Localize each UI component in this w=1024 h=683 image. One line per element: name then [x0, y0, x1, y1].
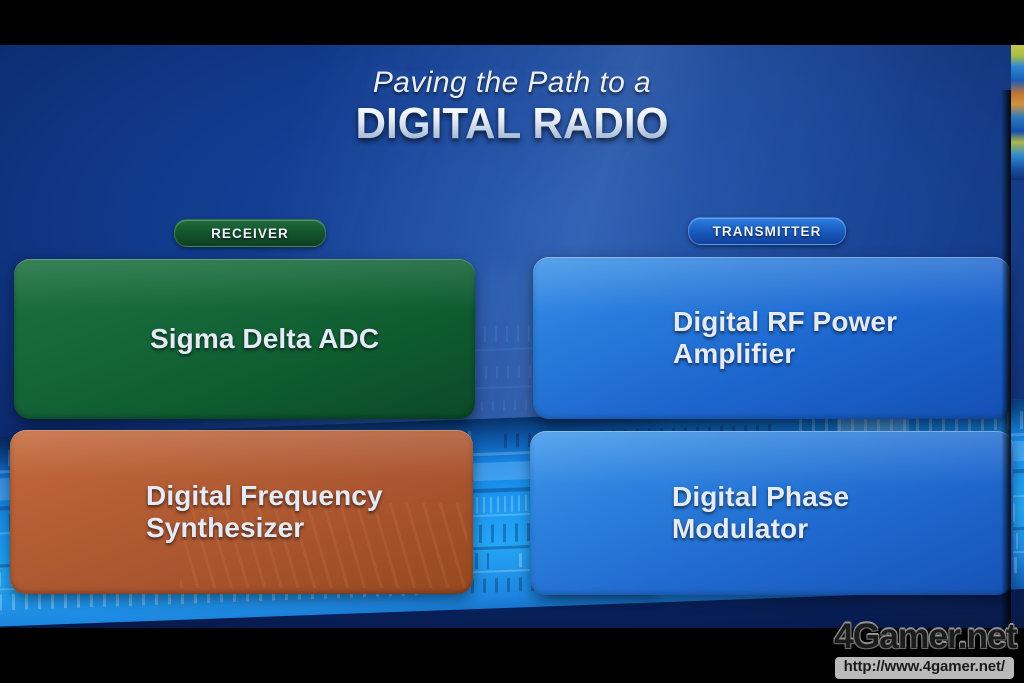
card-digital-phase-modulator[interactable]: Digital Phase Modulator: [530, 431, 1013, 595]
slide-title: DIGITAL RADIO: [20, 101, 1003, 147]
letterbox-top: [0, 0, 1024, 45]
section-badge-transmitter-label: TRANSMITTER: [713, 224, 822, 239]
card-digital-frequency-synthesizer-title: Digital Frequency Synthesizer: [146, 480, 383, 544]
card-digital-rf-power-amplifier[interactable]: Digital RF Power Amplifier: [533, 257, 1010, 419]
watermark-url: http://www.4gamer.net/: [835, 657, 1014, 679]
presentation-slide: Paving the Path to a DIGITAL RADIO RECEI…: [0, 45, 1024, 628]
screen-edge-shadow: [1001, 90, 1011, 628]
card-title-line-2: Synthesizer: [146, 512, 383, 544]
section-badge-receiver-label: RECEIVER: [211, 226, 289, 241]
card-digital-phase-modulator-title: Digital Phase Modulator: [672, 481, 849, 545]
card-title-line-1: Digital Phase: [672, 481, 849, 513]
card-title-line-2: Amplifier: [673, 338, 897, 370]
slide-subtitle: Paving the Path to a: [0, 67, 1024, 99]
watermark-4gamer: 4Gamer.net http://www.4gamer.net/: [835, 619, 1014, 679]
card-title-line-1: Digital RF Power: [673, 306, 897, 338]
card-title-line-1: Digital Frequency: [146, 480, 383, 512]
card-digital-frequency-synthesizer[interactable]: Digital Frequency Synthesizer: [10, 430, 473, 594]
watermark-logo: 4Gamer.net: [833, 619, 1016, 654]
section-badge-transmitter: TRANSMITTER: [688, 217, 846, 245]
card-title-line-2: Modulator: [672, 513, 849, 545]
card-sigma-delta-adc[interactable]: Sigma Delta ADC: [14, 259, 475, 419]
card-digital-rf-power-amplifier-title: Digital RF Power Amplifier: [673, 306, 897, 370]
projector-edge-color-fringe: [1011, 45, 1024, 180]
screenshot-stage: Paving the Path to a DIGITAL RADIO RECEI…: [0, 0, 1024, 683]
section-badge-receiver: RECEIVER: [174, 219, 326, 247]
card-sigma-delta-adc-title: Sigma Delta ADC: [150, 323, 379, 355]
slide-title-block: Paving the Path to a DIGITAL RADIO: [0, 67, 1024, 148]
